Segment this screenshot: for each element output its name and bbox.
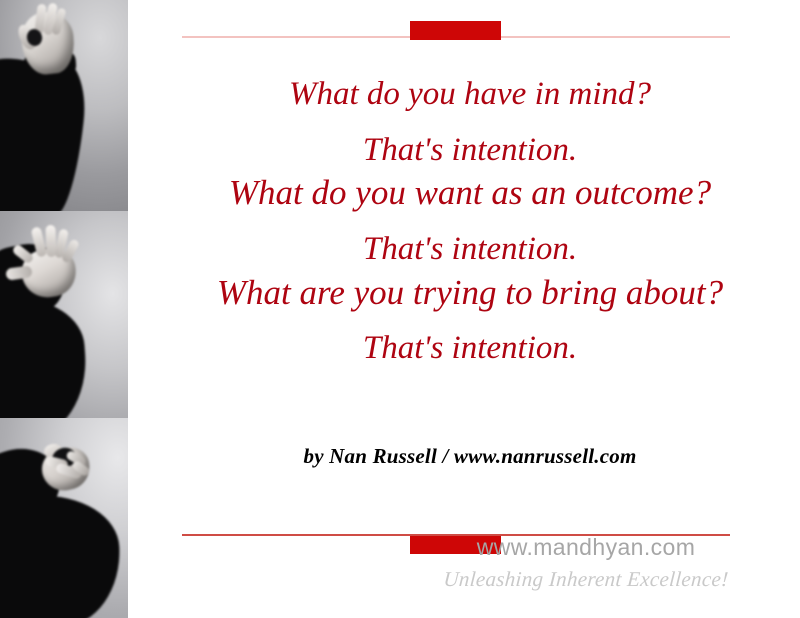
open-palm-gesture-photo: [0, 211, 128, 418]
photo-strip: [0, 0, 128, 618]
photo-subject: [0, 418, 128, 618]
quote-line-2: That's intention.: [150, 134, 790, 168]
hand-ok-gesture-photo: [0, 0, 128, 211]
photo-subject: [0, 211, 128, 418]
footer-branding: www.mandhyan.com Unleashing Inherent Exc…: [426, 533, 746, 592]
top-accent-block: [410, 21, 501, 40]
grasping-hand-gesture-photo: [0, 418, 128, 618]
quote-line-5: What are you trying to bring about?: [150, 275, 790, 311]
quote-line-4: That's intention.: [150, 233, 790, 267]
quote-line-6: That's intention.: [150, 332, 790, 366]
footer-website[interactable]: www.mandhyan.com: [426, 533, 746, 562]
footer-tagline: Unleashing Inherent Excellence!: [425, 567, 747, 592]
quote-line-1: What do you have in mind?: [150, 78, 790, 112]
quote-attribution: by Nan Russell / www.nanrussell.com: [150, 444, 790, 469]
photo-subject: [0, 0, 128, 211]
quote-text: What do you have in mind? That's intenti…: [150, 78, 790, 384]
quote-slide: What do you have in mind? That's intenti…: [0, 0, 800, 618]
quote-line-3: What do you want as an outcome?: [150, 175, 790, 211]
